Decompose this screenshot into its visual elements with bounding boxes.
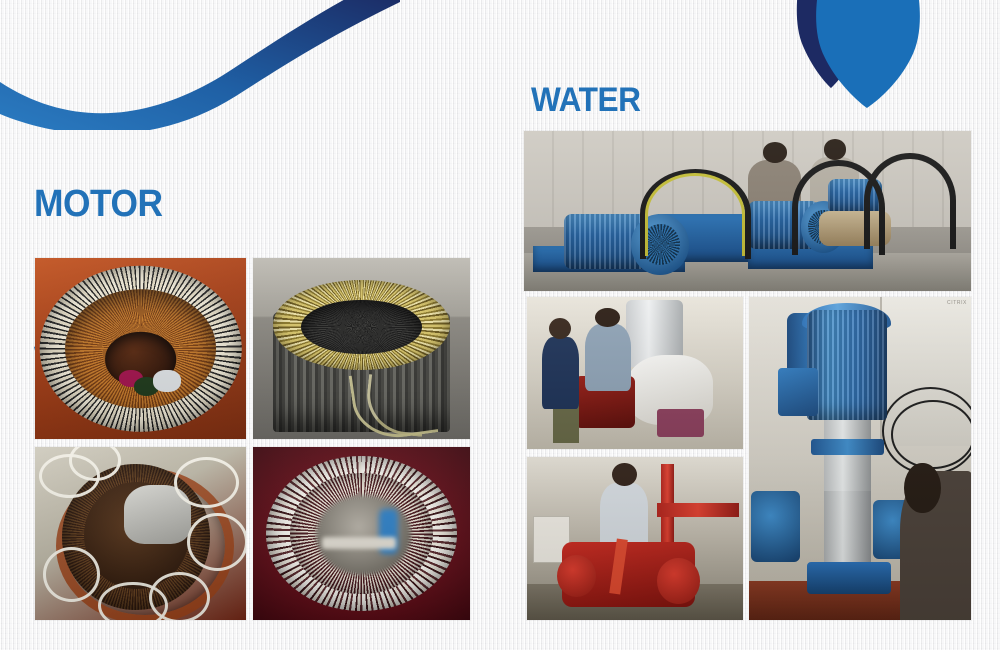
wave-ribbon-decoration	[0, 0, 420, 130]
photo-shading	[35, 258, 246, 439]
photo-shading	[527, 457, 743, 620]
photo-technicians-red-pump	[527, 297, 743, 449]
heading-line-1: MOTOR	[34, 185, 236, 224]
photo-stator-white	[253, 447, 470, 620]
photo-artwork	[524, 131, 971, 291]
photo-pump-bench	[524, 131, 971, 291]
photo-shading	[253, 447, 470, 620]
heading-line-1: WATER	[531, 83, 747, 118]
photo-shading	[524, 131, 971, 291]
photo-artwork: CITRIX	[749, 297, 971, 620]
photo-shading	[35, 447, 246, 620]
photo-stator-brass	[253, 258, 470, 439]
photo-stator-dark	[35, 447, 246, 620]
photo-stator-copper	[35, 258, 246, 439]
photo-technician-fire-pump	[527, 457, 743, 620]
photo-shading	[253, 258, 470, 439]
photo-artwork	[253, 447, 470, 620]
photo-vertical-multistage-pump: CITRIX	[749, 297, 971, 620]
droplet-navy-icon	[797, 0, 865, 88]
photo-artwork	[527, 457, 743, 620]
photo-shading	[749, 297, 971, 620]
photo-artwork	[527, 297, 743, 449]
photo-artwork	[253, 258, 470, 439]
brochure-page: MOTOR REWINDING WORKS WATER PUMP WORKS	[0, 0, 1000, 650]
droplet-decoration	[785, 0, 955, 112]
photo-artwork	[35, 447, 246, 620]
photo-shading	[527, 297, 743, 449]
droplet-blue-icon	[816, 0, 920, 108]
photo-artwork	[35, 258, 246, 439]
